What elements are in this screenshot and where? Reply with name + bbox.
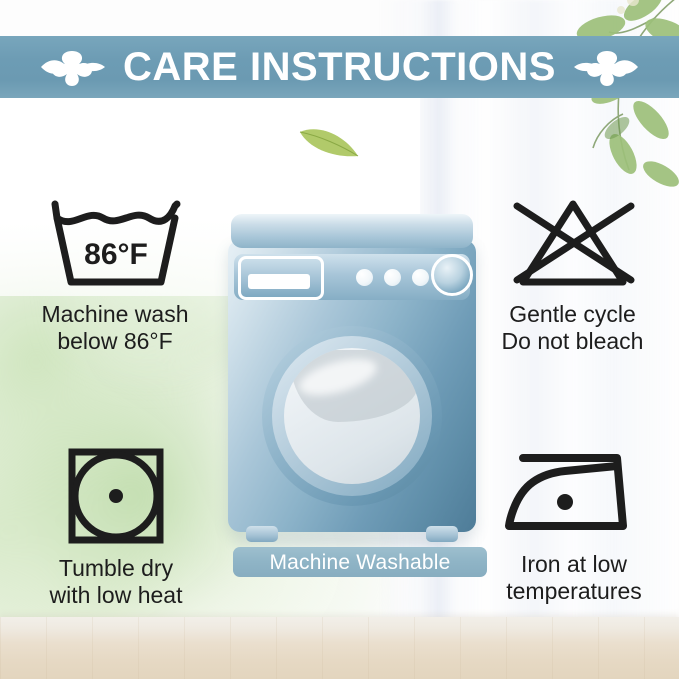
control-indicator-lights xyxy=(356,269,429,286)
care-item-caption-tumble-dry: Tumble dry with low heat xyxy=(12,555,220,609)
care-item-machine-wash: 86°F Machine wash below 86°F xyxy=(10,196,220,355)
wooden-table-surface xyxy=(0,617,679,679)
wash-temperature-value: 86°F xyxy=(84,238,148,271)
machine-door-glass xyxy=(284,348,420,484)
indicator-dot xyxy=(384,269,401,286)
iron-icon xyxy=(499,452,649,542)
machine-washable-badge-label: Machine Washable xyxy=(269,552,450,573)
wash-tub-icon: 86°F xyxy=(39,196,191,292)
page-title: CARE INSTRUCTIONS xyxy=(123,47,556,87)
washing-machine-illustration xyxy=(228,214,476,534)
indicator-dot xyxy=(412,269,429,286)
care-instructions-graphic: CARE INSTRUCTIONS 86°F Machine wash belo… xyxy=(0,0,679,679)
care-item-caption-gentle-bleach: Gentle cycle Do not bleach xyxy=(470,301,675,355)
indicator-dot xyxy=(356,269,373,286)
care-item-gentle-bleach: Gentle cycle Do not bleach xyxy=(470,196,675,355)
do-not-bleach-triangle-icon xyxy=(497,196,649,292)
care-item-tumble-dry: Tumble dry with low heat xyxy=(12,446,220,609)
floating-leaf-icon xyxy=(296,118,362,160)
header-banner: CARE INSTRUCTIONS xyxy=(0,36,679,98)
care-item-iron-low: Iron at low temperatures xyxy=(472,452,676,605)
plant-branch-decoration xyxy=(505,0,679,218)
tumble-dry-square-icon xyxy=(66,446,166,546)
machine-foot-right xyxy=(426,526,458,542)
care-item-caption-machine-wash: Machine wash below 86°F xyxy=(10,301,220,355)
detergent-drawer-slot xyxy=(248,274,310,289)
program-selector-knob xyxy=(431,254,473,296)
machine-foot-left xyxy=(246,526,278,542)
fleur-de-lis-ornament-right-icon xyxy=(574,47,638,87)
machine-washable-badge: Machine Washable xyxy=(233,547,487,577)
fleur-de-lis-ornament-left-icon xyxy=(41,47,105,87)
machine-top-lid xyxy=(231,214,473,248)
care-item-caption-iron-low: Iron at low temperatures xyxy=(472,551,676,605)
